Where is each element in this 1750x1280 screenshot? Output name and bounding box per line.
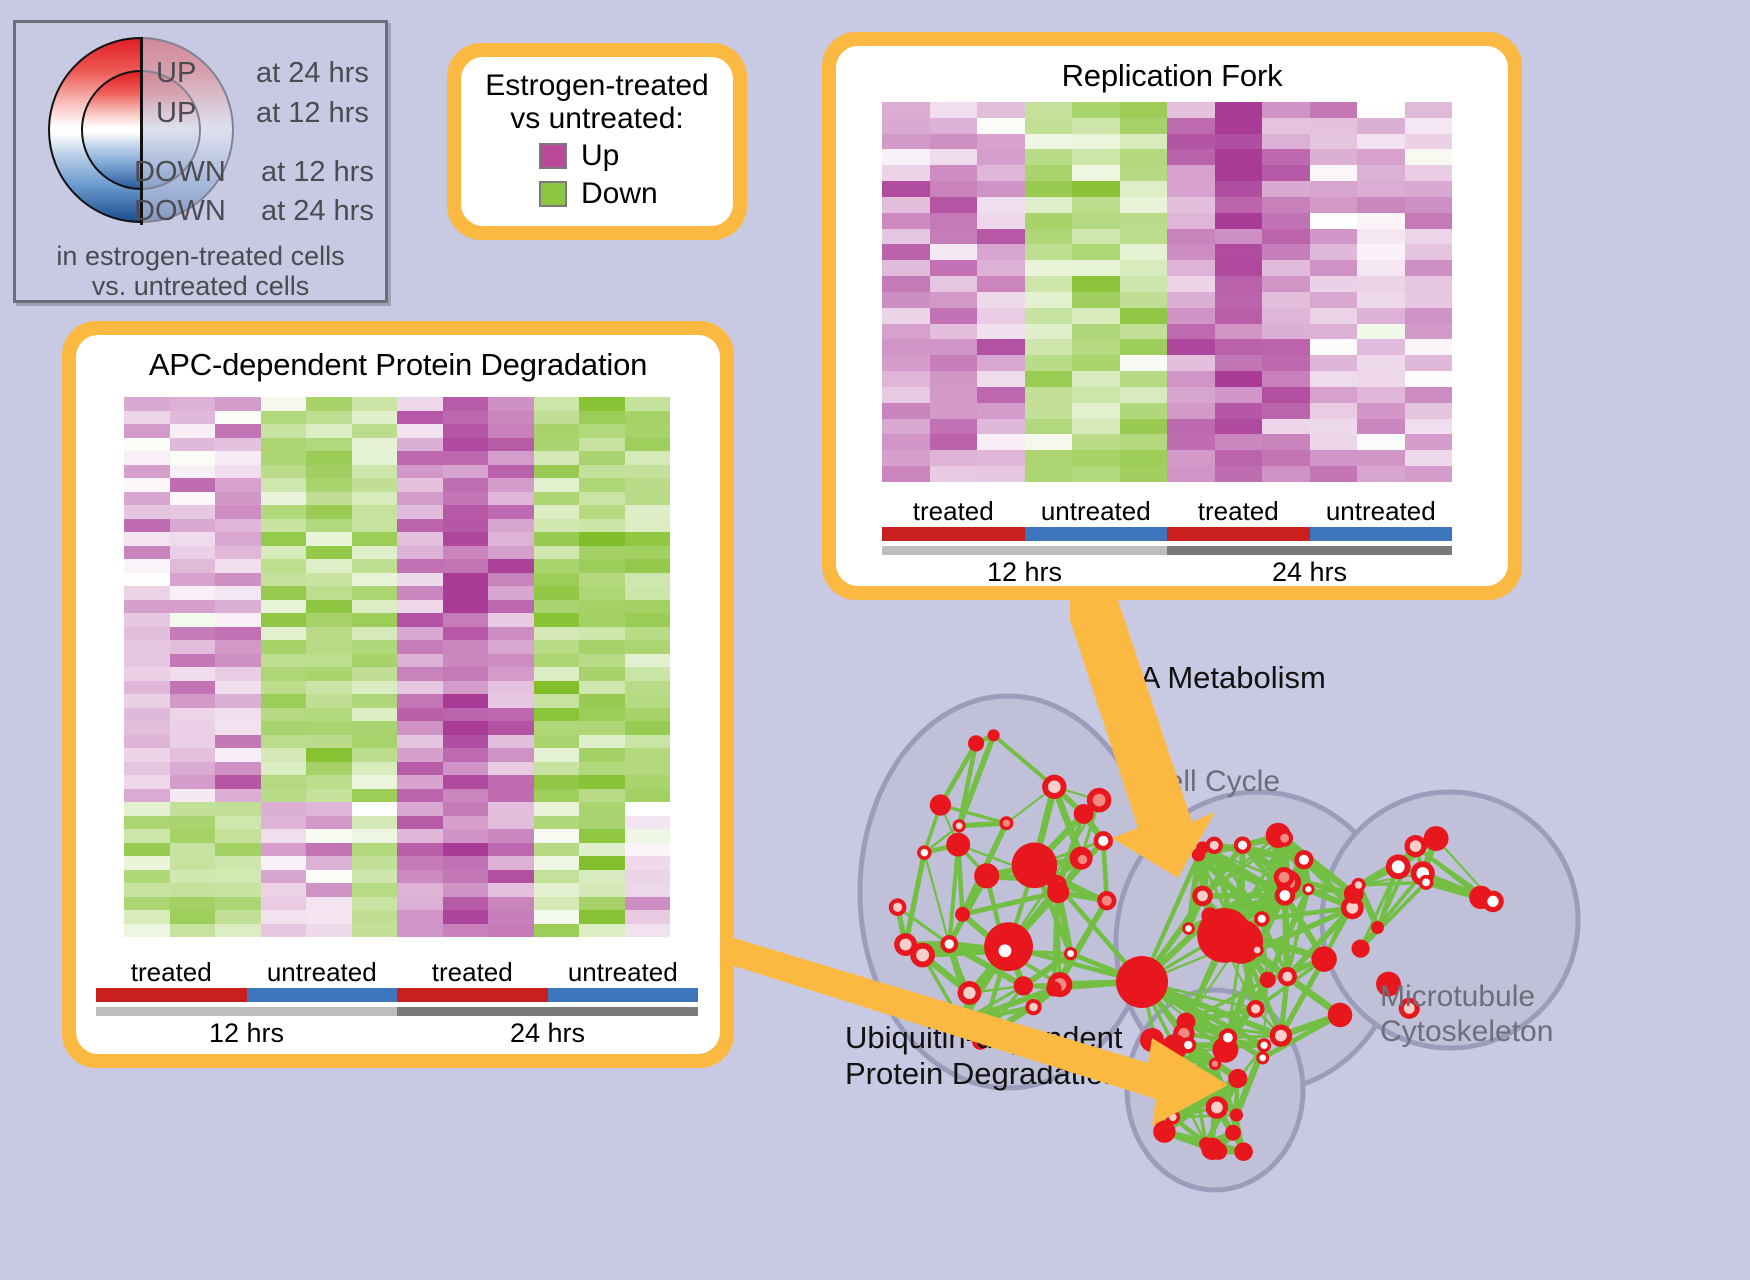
heatmap-cell — [488, 735, 534, 749]
heatmap-cell — [534, 802, 580, 816]
heatmap-cell — [1025, 118, 1073, 134]
heatmap-cell — [306, 735, 352, 749]
network-node[interactable] — [958, 981, 982, 1005]
heatmap-cell — [261, 627, 307, 641]
heatmap-cell — [397, 870, 443, 884]
network-node[interactable] — [1234, 837, 1251, 854]
heatmap-cell — [882, 355, 930, 371]
heatmap-cell — [625, 721, 671, 735]
network-node[interactable] — [955, 907, 970, 922]
heatmap-cell — [1310, 118, 1358, 134]
heatmap-cell — [882, 403, 930, 419]
network-node[interactable] — [1311, 946, 1336, 971]
heatmap-cell — [1120, 276, 1168, 292]
heatmap-cell — [1167, 276, 1215, 292]
network-node[interactable] — [1386, 854, 1411, 879]
heatmap-cell — [930, 292, 978, 308]
heatmap-cell — [488, 546, 534, 560]
heatmap-cell — [1357, 102, 1405, 118]
heatmap-cell — [1072, 229, 1120, 245]
heatmap-cell — [397, 492, 443, 506]
heatmap-cell — [625, 492, 671, 506]
heatmap-cell — [170, 897, 216, 911]
timepoint-labels: 12 hrs 24 hrs — [882, 557, 1452, 586]
heatmap-cell — [261, 870, 307, 884]
heatmap-cell — [977, 260, 1025, 276]
heatmap-cell — [397, 694, 443, 708]
heatmap-cell — [443, 532, 489, 546]
heatmap-cell — [306, 843, 352, 857]
node-inner-core — [1280, 834, 1289, 843]
heatmap-cell — [579, 856, 625, 870]
heatmap-cell — [1310, 292, 1358, 308]
heatmap-cell — [215, 883, 261, 897]
heatmap-cell — [261, 438, 307, 452]
network-node[interactable] — [968, 735, 984, 751]
network-node[interactable] — [1192, 848, 1205, 861]
heatmap-cell — [306, 451, 352, 465]
heatmap-cell — [397, 856, 443, 870]
network-node[interactable] — [1225, 921, 1241, 937]
heatmap-cell — [124, 924, 170, 938]
heatmap-cell — [579, 397, 625, 411]
heatmap-cell — [215, 654, 261, 668]
heatmap-cell — [306, 924, 352, 938]
panel-title-replication-fork: Replication Fork — [836, 46, 1508, 94]
heatmap-cell — [930, 466, 978, 482]
heatmap-cell — [124, 505, 170, 519]
node-inner-core — [1279, 872, 1290, 883]
heatmap-cell — [534, 640, 580, 654]
heatmap-cell — [1072, 292, 1120, 308]
network-node[interactable] — [1371, 921, 1384, 934]
heatmap-cell — [930, 419, 978, 435]
heatmap-cell — [1120, 149, 1168, 165]
heatmap-cell — [443, 519, 489, 533]
network-node[interactable] — [1025, 999, 1041, 1015]
node-inner-core — [1185, 925, 1192, 932]
heatmap-cell — [1025, 434, 1073, 450]
network-node[interactable] — [1219, 1028, 1238, 1047]
network-node[interactable] — [988, 729, 1000, 741]
network-node[interactable] — [1351, 939, 1369, 957]
heatmap-cell — [625, 924, 671, 938]
heatmap-cell — [306, 681, 352, 695]
network-node[interactable] — [1228, 1069, 1247, 1088]
heatmap-cell — [352, 694, 398, 708]
network-node[interactable] — [1275, 885, 1295, 905]
heatmap-cell — [579, 870, 625, 884]
node-inner-core — [1299, 855, 1309, 865]
heatmap-cell — [930, 102, 978, 118]
heatmap-cell — [397, 505, 443, 519]
heatmap-cell — [534, 694, 580, 708]
heatmap-cell — [488, 748, 534, 762]
heatmap-cell — [625, 532, 671, 546]
network-node[interactable] — [1042, 775, 1066, 799]
network-node[interactable] — [1482, 891, 1504, 913]
network-node[interactable] — [1276, 830, 1293, 847]
network-node[interactable] — [1046, 981, 1061, 996]
heatmap-cell — [261, 559, 307, 573]
network-node[interactable] — [1404, 835, 1426, 857]
heatmap-cell — [625, 519, 671, 533]
heatmap-cell — [443, 775, 489, 789]
network-node[interactable] — [1201, 907, 1218, 924]
heatmap-cell — [443, 424, 489, 438]
heatmap-cell — [579, 694, 625, 708]
heatmap-cell — [1025, 419, 1073, 435]
heatmap-cell — [882, 419, 930, 435]
heatmap-cell — [579, 654, 625, 668]
network-node[interactable] — [894, 933, 917, 956]
heatmap-cell — [124, 397, 170, 411]
heatmap-cell — [1215, 419, 1263, 435]
heatmap-cell — [625, 600, 671, 614]
heatmap-cell — [488, 519, 534, 533]
network-node[interactable] — [993, 938, 1018, 963]
heatmap-cell — [977, 387, 1025, 403]
heatmap-cell — [625, 708, 671, 722]
heatmap-cell — [352, 546, 398, 560]
heatmap-cell — [397, 438, 443, 452]
key-time-0: at 24 hrs — [256, 57, 369, 90]
heatmap-cell — [1357, 403, 1405, 419]
heatmap-cell — [977, 197, 1025, 213]
node-inner-core — [1067, 950, 1074, 957]
heatmap-cell — [261, 843, 307, 857]
node-outer-ring — [1140, 1028, 1164, 1052]
heatmap-cell — [124, 640, 170, 654]
heatmap-cell — [1072, 371, 1120, 387]
heatmap-cell — [977, 118, 1025, 134]
heatmap-cell — [397, 802, 443, 816]
heatmap-cell — [397, 775, 443, 789]
network-node[interactable] — [930, 794, 951, 815]
node-outer-ring — [1045, 873, 1059, 887]
heatmap-cell — [1120, 371, 1168, 387]
network-node[interactable] — [1094, 831, 1113, 850]
untreated-bar-12 — [1025, 527, 1168, 541]
network-node[interactable] — [1014, 976, 1033, 995]
heatmap-cell — [1215, 292, 1263, 308]
heatmap-cell — [397, 748, 443, 762]
heatmap-cell — [625, 829, 671, 843]
axis-apc: treated untreated treated untreated 12 h — [96, 957, 698, 1049]
heatmap-cell — [215, 505, 261, 519]
heatmap-cell — [977, 466, 1025, 482]
heatmap-cell — [1120, 466, 1168, 482]
heatmap-cell — [124, 613, 170, 627]
node-outer-ring — [1225, 1125, 1241, 1141]
heatmap-cell — [882, 339, 930, 355]
network-node[interactable] — [1209, 1142, 1227, 1160]
heatmap-cell — [1310, 387, 1358, 403]
heatmap-cell — [443, 816, 489, 830]
heatmap-cell — [1262, 419, 1310, 435]
heatmap-cell — [579, 640, 625, 654]
heatmap-cell — [124, 721, 170, 735]
heatmap-cell — [170, 829, 216, 843]
group-label-1: untreated — [1025, 496, 1168, 527]
network-node[interactable] — [1192, 886, 1213, 907]
heatmap-cell — [1072, 466, 1120, 482]
heatmap-cell — [124, 910, 170, 924]
heatmap-cell — [352, 559, 398, 573]
network-node[interactable] — [953, 819, 966, 832]
network-node[interactable] — [1294, 850, 1313, 869]
heatmap-cell — [397, 397, 443, 411]
heatmap-cell — [443, 451, 489, 465]
network-node[interactable] — [999, 816, 1013, 830]
node-inner-core — [893, 903, 902, 912]
network-node[interactable] — [1230, 1108, 1243, 1121]
network-node[interactable] — [1234, 1142, 1253, 1161]
heatmap-cell — [1167, 244, 1215, 260]
network-node[interactable] — [1278, 967, 1297, 986]
heatmap-cell — [443, 397, 489, 411]
network-node[interactable] — [1302, 883, 1314, 895]
network-node[interactable] — [1206, 1096, 1229, 1119]
heatmap-cell — [1120, 355, 1168, 371]
network-node[interactable] — [1140, 1028, 1164, 1052]
heatmap-cell — [625, 694, 671, 708]
heatmap-cell — [306, 856, 352, 870]
heatmap-cell — [579, 681, 625, 695]
heatmap-cell — [1072, 419, 1120, 435]
heatmap-cell — [1357, 419, 1405, 435]
network-node[interactable] — [1254, 911, 1270, 927]
network-node[interactable] — [1274, 867, 1295, 888]
heatmap-cell — [1120, 339, 1168, 355]
heatmap-cell — [261, 654, 307, 668]
node-inner-core — [1098, 836, 1108, 846]
network-node[interactable] — [940, 935, 958, 953]
heatmap-cell — [397, 816, 443, 830]
heatmap-cell — [124, 735, 170, 749]
heatmap-cell — [215, 627, 261, 641]
heatmap-cell — [397, 721, 443, 735]
heatmap-cell — [261, 762, 307, 776]
heatmap-cell — [1357, 149, 1405, 165]
heatmap-cell — [443, 735, 489, 749]
heatmap-grid — [124, 397, 670, 937]
heatmap-cell — [1357, 213, 1405, 229]
heatmap-cell — [1167, 355, 1215, 371]
heatmap-cell — [1405, 134, 1453, 150]
heatmap-cell — [261, 424, 307, 438]
node-inner-core — [1078, 855, 1087, 864]
treatment-color-bar — [96, 988, 698, 1002]
network-node[interactable] — [1182, 922, 1195, 935]
heatmap-cell — [124, 843, 170, 857]
heatmap-cell — [1215, 213, 1263, 229]
heatmap-cell — [124, 883, 170, 897]
timepoint-color-bar — [882, 546, 1452, 555]
group-label-0: treated — [882, 496, 1025, 527]
network-node[interactable] — [1074, 851, 1092, 869]
node-inner-core — [999, 944, 1012, 957]
network-node[interactable] — [1045, 873, 1059, 887]
network-node[interactable] — [889, 898, 907, 916]
heatmap-cell — [1072, 213, 1120, 229]
heatmap-cell — [625, 613, 671, 627]
heatmap-cell — [170, 883, 216, 897]
heatmap-cell — [261, 465, 307, 479]
heatmap-cell — [579, 600, 625, 614]
heatmap-cell — [1262, 118, 1310, 134]
heatmap-cell — [306, 519, 352, 533]
heatmap-cell — [352, 789, 398, 803]
node-inner-core — [1305, 886, 1311, 892]
heatmap-cell — [215, 397, 261, 411]
network-node[interactable] — [1351, 878, 1365, 892]
heatmap-cell — [1262, 229, 1310, 245]
heatmap-cell — [930, 118, 978, 134]
heatmap-cell — [306, 829, 352, 843]
network-node[interactable] — [1087, 788, 1112, 813]
heatmap-cell — [306, 694, 352, 708]
heatmap-cell — [1310, 197, 1358, 213]
heatmap-cell — [261, 478, 307, 492]
heatmap-cell — [1025, 308, 1073, 324]
network-node[interactable] — [1247, 1000, 1265, 1018]
heatmap-cell — [977, 355, 1025, 371]
heatmap-cell — [882, 434, 930, 450]
network-node[interactable] — [946, 833, 970, 857]
heatmap-cell — [534, 910, 580, 924]
heatmap-cell — [306, 492, 352, 506]
heatmap-cell — [443, 897, 489, 911]
heatmap-cell — [215, 424, 261, 438]
untreated-bar-24 — [1310, 527, 1453, 541]
heatmap-cell — [443, 910, 489, 924]
heatmap-cell — [534, 613, 580, 627]
heatmap-cell — [625, 897, 671, 911]
heatmap-cell — [625, 424, 671, 438]
heatmap-cell — [352, 465, 398, 479]
heatmap-cell — [930, 260, 978, 276]
network-node[interactable] — [1180, 1037, 1196, 1053]
updown-legend-panel: Estrogen-treated vs untreated: Up Down — [447, 43, 747, 240]
heatmap-cell — [1262, 213, 1310, 229]
heatmap-cell — [534, 789, 580, 803]
heatmap-cell — [124, 532, 170, 546]
heatmap-cell — [170, 748, 216, 762]
heatmap-cell — [443, 667, 489, 681]
heatmap-cell — [1405, 387, 1453, 403]
network-node[interactable] — [1328, 1003, 1353, 1028]
heatmap-cell — [1405, 403, 1453, 419]
heatmap-cell — [488, 654, 534, 668]
heatmap-cell — [124, 802, 170, 816]
key-time-2: at 12 hrs — [261, 156, 374, 189]
heatmap-cell — [930, 324, 978, 340]
heatmap-cell — [977, 371, 1025, 387]
heatmap-cell — [1215, 181, 1263, 197]
heatmap-cell — [124, 600, 170, 614]
pathway-network-diagram: DNA Metabolism Cell Cycle Microtubule Cy… — [790, 620, 1750, 1280]
heatmap-cell — [261, 546, 307, 560]
network-node[interactable] — [1256, 1051, 1269, 1064]
heatmap-cell — [397, 451, 443, 465]
heatmap-cell — [579, 910, 625, 924]
heatmap-cell — [534, 883, 580, 897]
heatmap-cell — [215, 411, 261, 425]
key-state-3: DOWN — [134, 195, 226, 228]
heatmap-cell — [534, 519, 580, 533]
heatmap-cell — [215, 910, 261, 924]
heatmap-cell — [534, 843, 580, 857]
network-node[interactable] — [1260, 972, 1276, 988]
heatmap-cell — [1167, 434, 1215, 450]
heatmap-cell — [170, 411, 216, 425]
heatmap-cell — [352, 802, 398, 816]
heatmap-cell — [1262, 276, 1310, 292]
heatmap-cell — [443, 843, 489, 857]
heatmap-cell — [261, 829, 307, 843]
network-node[interactable] — [1257, 1038, 1271, 1052]
network-node[interactable] — [974, 863, 999, 888]
heatmap-cell — [352, 708, 398, 722]
network-node[interactable] — [1424, 826, 1449, 851]
network-node[interactable] — [1225, 1125, 1241, 1141]
heatmap-cell — [306, 478, 352, 492]
heatmap-cell — [579, 883, 625, 897]
network-node[interactable] — [1419, 875, 1434, 890]
heatmap-cell — [443, 613, 489, 627]
network-node[interactable] — [1270, 1024, 1292, 1046]
heatmap-cell — [443, 492, 489, 506]
network-node[interactable] — [1166, 1110, 1181, 1125]
heatmap-cell — [882, 229, 930, 245]
heatmap-cell — [579, 789, 625, 803]
heatmap-cell — [977, 276, 1025, 292]
heatmap-cell — [1120, 102, 1168, 118]
network-node[interactable] — [1251, 944, 1264, 957]
heatmap-cell — [1072, 450, 1120, 466]
heatmap-cell — [352, 478, 398, 492]
heatmap-cell — [1215, 276, 1263, 292]
heatmap-cell — [124, 856, 170, 870]
heatmap-cell — [930, 244, 978, 260]
heatmap-cell — [930, 339, 978, 355]
network-node[interactable] — [917, 845, 931, 859]
heatmap-cell — [443, 870, 489, 884]
network-node[interactable] — [1116, 956, 1168, 1008]
network-node[interactable] — [1209, 1058, 1221, 1070]
heatmap-cell — [397, 910, 443, 924]
heatmap-cell — [1120, 197, 1168, 213]
heatmap-cell — [1167, 450, 1215, 466]
heatmap-cell — [579, 748, 625, 762]
heatmap-cell — [488, 897, 534, 911]
network-node[interactable] — [1097, 891, 1116, 910]
heatmap-cell — [1357, 355, 1405, 371]
heatmap-cell — [1357, 450, 1405, 466]
untreated-bar-12 — [247, 988, 398, 1002]
heatmap-cell — [1120, 308, 1168, 324]
node-inner-core — [1210, 841, 1219, 850]
heatmap-cell — [397, 519, 443, 533]
heatmap-cell — [1215, 134, 1263, 150]
heatmap-cell — [443, 640, 489, 654]
heatmap-cell — [1215, 102, 1263, 118]
heatmap-cell — [261, 640, 307, 654]
heatmap-cell — [488, 883, 534, 897]
network-node[interactable] — [1064, 947, 1077, 960]
heatmap-cell — [625, 640, 671, 654]
